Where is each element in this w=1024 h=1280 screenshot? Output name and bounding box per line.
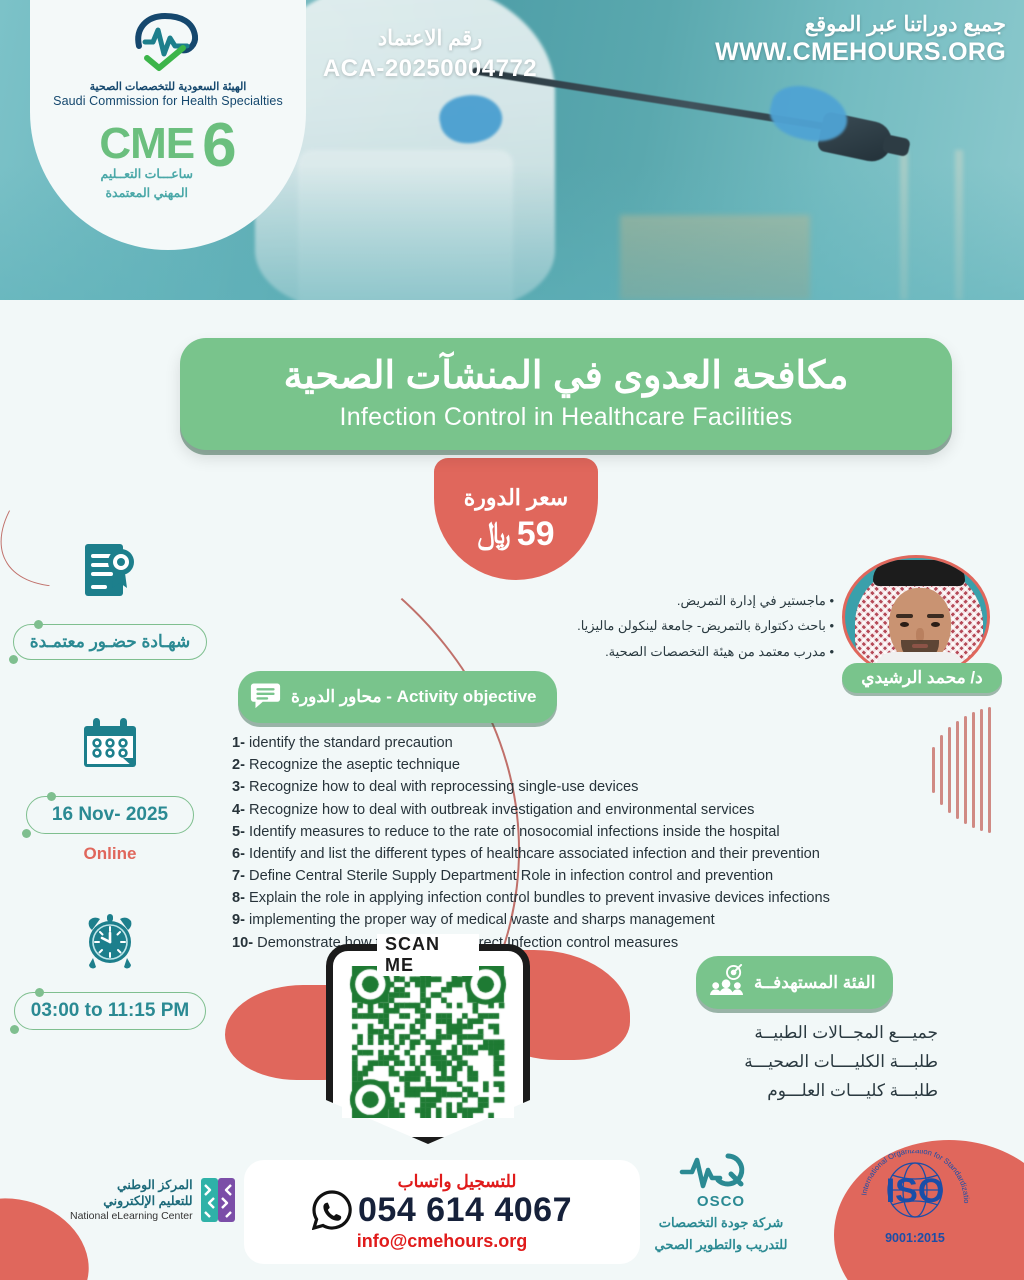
time-text: 03:00 to 11:15 PM [31, 1000, 189, 1022]
registration-label: للتسجيل واتساب [398, 1172, 517, 1192]
objective-text: Identify measures to reduce to the rate … [249, 824, 780, 840]
qr-scan-label: SCAN ME [377, 934, 479, 976]
price-amount: 59 [517, 515, 555, 554]
website-label: جميع دوراتنا عبر الموقع [715, 12, 1006, 37]
course-poster: الهيئة السعودية للتخصصات الصحية Saudi Co… [0, 0, 1024, 1280]
audience-list: جميـــع المجــالات الطبيــة طلبـــة الكل… [678, 1018, 938, 1106]
nelc-name-arabic-line2: للتعليم الإلكتروني [70, 1194, 193, 1210]
date-pill: 16 Nov- 2025 [26, 796, 194, 834]
objective-number: 5- [232, 824, 245, 840]
objective-text: Define Central Sterile Supply Department… [249, 868, 773, 884]
objective-text: Recognize how to deal with outbreak inve… [249, 802, 754, 818]
decor-vertical-bars [932, 705, 1004, 835]
info-item-certificate: شهـادة حضـور معتمـدة [0, 540, 220, 660]
igal-band [873, 560, 965, 586]
objective-item: 5- Identify measures to reduce to the ra… [232, 821, 872, 843]
time-pill: 03:00 to 11:15 PM [14, 992, 206, 1030]
objective-text: Recognize how to deal with reprocessing … [249, 779, 638, 795]
objective-number: 4- [232, 802, 245, 818]
schs-name-english: Saudi Commission for Health Specialties [53, 94, 283, 108]
certificate-pill: شهـادة حضـور معتمـدة [13, 624, 207, 660]
price-value: 59 ﷼ [477, 515, 554, 554]
objective-number: 7- [232, 868, 245, 884]
website-block: جميع دوراتنا عبر الموقع WWW.CMEHOURS.ORG [715, 12, 1006, 67]
schs-logo-icon [131, 12, 205, 72]
phone-row[interactable]: 054 614 4067 [312, 1190, 572, 1230]
date-text: 16 Nov- 2025 [43, 804, 177, 826]
course-info-column: شهـادة حضـور معتمـدة 16 [0, 540, 220, 1030]
audience-chip: الفئة المستهدفــة [696, 956, 893, 1009]
schs-name-arabic: الهيئة السعودية للتخصصات الصحية [90, 80, 247, 93]
objective-text: Recognize the aseptic technique [249, 757, 460, 773]
objective-number: 1- [232, 735, 245, 751]
audience-item: طلبـــة كليـــات العلـــوم [678, 1076, 938, 1105]
accreditation-block: رقم الاعتماد ACA-20250004772 [280, 26, 580, 83]
osco-logo-block: OSCO شركة جودة التخصصات للتدريب والتطوير… [636, 1152, 806, 1253]
cme-sub-line1: ساعـــات التعــليم [101, 166, 193, 183]
objective-item: 4- Recognize how to deal with outbreak i… [232, 799, 872, 821]
objective-number: 9- [232, 912, 245, 928]
info-item-time: 03:00 to 11:15 PM [0, 908, 220, 1030]
objective-number: 3- [232, 779, 245, 795]
objective-text: Explain the role in applying infection c… [249, 890, 830, 906]
contact-card: للتسجيل واتساب 054 614 4067 info@cmehour… [244, 1160, 640, 1264]
qr-code-image[interactable] [342, 966, 514, 1118]
objective-item: 6- Identify and list the different types… [232, 843, 872, 865]
alarm-clock-icon [79, 908, 141, 970]
objective-text: implementing the proper way of medical w… [249, 912, 715, 928]
objective-text: Identify and list the different types of… [249, 846, 820, 862]
contact-email[interactable]: info@cmehours.org [357, 1231, 528, 1252]
certificate-icon [79, 540, 141, 602]
osco-wordmark: OSCO [636, 1193, 806, 1210]
objective-item: 9- implementing the proper way of medica… [232, 909, 872, 931]
speaker-avatar [842, 555, 990, 679]
audience-item: طلبـــة الكليــــات الصحيـــة [678, 1047, 938, 1076]
phone-number[interactable]: 054 614 4067 [358, 1191, 572, 1230]
price-label: سعر الدورة [464, 485, 568, 511]
target-audience-icon [710, 964, 744, 1001]
objectives-list: 1- identify the standard precaution 2- R… [232, 732, 872, 954]
accreditation-number: ACA-20250004772 [280, 55, 580, 83]
speaker-credentials: ماجستير في إدارة التمريض. باحث دكتوارة ب… [514, 588, 834, 664]
osco-name-arabic-line1: شركة جودة التخصصات [636, 1214, 806, 1232]
objective-number: 8- [232, 890, 245, 906]
objective-number: 2- [232, 757, 245, 773]
speech-bubble-icon [250, 679, 281, 715]
course-title-banner: مكافحة العدوى في المنشآت الصحية Infectio… [180, 338, 952, 450]
objective-item: 1- identify the standard precaution [232, 732, 872, 754]
riyal-symbol-icon: ﷼ [477, 517, 510, 551]
speaker-name: د/ محمد الرشيدي [861, 668, 982, 687]
speaker-credential: ماجستير في إدارة التمريض. [514, 588, 834, 613]
course-price-badge: سعر الدورة 59 ﷼ [434, 458, 598, 580]
delivery-mode-label: Online [84, 844, 137, 864]
iso-logo-block: International Organization for Standardi… [840, 1150, 990, 1245]
calendar-icon [79, 712, 141, 774]
audience-item: جميـــع المجــالات الطبيــة [678, 1018, 938, 1047]
osco-name-arabic-line2: للتدريب والتطوير الصحي [636, 1236, 806, 1254]
objective-text: identify the standard precaution [249, 735, 453, 751]
nelc-logo-block: المركز الوطني للتعليم الإلكتروني Nationa… [70, 1178, 235, 1222]
course-title-arabic: مكافحة العدوى في المنشآت الصحية [284, 356, 849, 398]
objective-item: 7- Define Central Sterile Supply Departm… [232, 865, 872, 887]
whatsapp-icon[interactable] [312, 1190, 352, 1230]
certificate-text: شهـادة حضـور معتمـدة [30, 632, 190, 652]
iso-wordmark: ISO [886, 1172, 945, 1210]
website-url[interactable]: WWW.CMEHOURS.ORG [715, 38, 1006, 67]
cme-label: CME [99, 124, 194, 164]
nelc-mark-icon [201, 1178, 235, 1222]
cme-hours-number: 6 [202, 120, 236, 173]
cme-sub-line2: المهني المعتمدة [105, 185, 188, 202]
objective-item: 3- Recognize how to deal with reprocessi… [232, 776, 872, 798]
objective-number: 10- [232, 935, 253, 951]
speaker-credential: باحث دكتوارة بالتمريض- جامعة لينكولن مال… [514, 613, 834, 638]
objective-number: 6- [232, 846, 245, 862]
nelc-name-english: National eLearning Center [70, 1210, 193, 1222]
cme-hours-block: CME ساعـــات التعــليم المهني المعتمدة 6 [99, 124, 236, 202]
objective-item: 8- Explain the role in applying infectio… [232, 887, 872, 909]
nelc-name-arabic-line1: المركز الوطني [70, 1178, 193, 1194]
course-title-english: Infection Control in Healthcare Faciliti… [339, 403, 792, 432]
speaker-credential: مدرب معتمد من هيئة التخصصات الصحية. [514, 639, 834, 664]
audience-chip-label: الفئة المستهدفــة [754, 973, 875, 993]
objectives-chip-label: Activity objective - محاور الدورة [291, 687, 537, 707]
speaker-block: د/ محمد الرشيدي [842, 555, 1002, 693]
accreditation-label: رقم الاعتماد [280, 26, 580, 51]
objectives-chip: Activity objective - محاور الدورة [238, 671, 557, 723]
speaker-name-badge: د/ محمد الرشيدي [842, 663, 1002, 693]
objective-item: 2- Recognize the aseptic technique [232, 754, 872, 776]
qr-code-block[interactable]: SCAN ME [326, 944, 530, 1144]
info-item-date: 16 Nov- 2025 Online [0, 712, 220, 864]
iso-globe-icon: International Organization for Standardi… [856, 1219, 974, 1236]
